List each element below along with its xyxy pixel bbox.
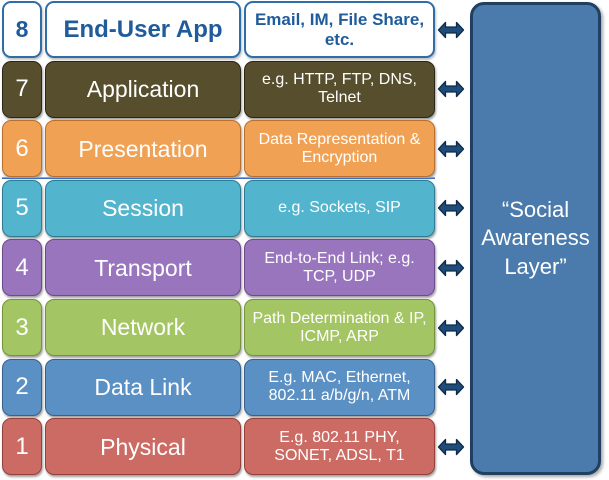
hairline-rule-1: [2, 178, 435, 179]
layer-description-6: Data Representation & Encryption: [244, 120, 435, 177]
layer-row-2: 2Data LinkE.g. MAC, Ethernet, 802.11 a/b…: [2, 359, 435, 416]
diagram-canvas: 8End-User AppEmail, IM, File Share, etc.…: [0, 0, 609, 480]
layer-description-3: Path Determination & IP, ICMP, ARP: [244, 299, 435, 356]
layer-description-4: End-to-End Link; e.g. TCP, UDP: [244, 239, 435, 296]
double-arrow-icon-1: [437, 435, 465, 459]
layer-name-4: Transport: [45, 239, 241, 296]
layer-name-5: Session: [45, 180, 241, 237]
layer-description-5: e.g. Sockets, SIP: [244, 180, 435, 237]
double-arrow-icon-4: [437, 256, 465, 280]
layer-number-1: 1: [2, 418, 42, 475]
social-awareness-panel: “Social Awareness Layer”: [470, 2, 601, 475]
layer-number-6: 6: [2, 120, 42, 177]
layer-row-8: 8End-User AppEmail, IM, File Share, etc.: [2, 1, 435, 58]
layer-description-2: E.g. MAC, Ethernet, 802.11 a/b/g/n, ATM: [244, 359, 435, 416]
layer-name-6: Presentation: [45, 120, 241, 177]
layer-number-2: 2: [2, 359, 42, 416]
layer-number-4: 4: [2, 239, 42, 296]
layer-row-5: 5Sessione.g. Sockets, SIP: [2, 180, 435, 237]
layer-row-3: 3NetworkPath Determination & IP, ICMP, A…: [2, 299, 435, 356]
layer-row-7: 7Applicatione.g. HTTP, FTP, DNS, Telnet: [2, 61, 435, 118]
layer-name-2: Data Link: [45, 359, 241, 416]
layer-number-7: 7: [2, 61, 42, 118]
double-arrow-icon-2: [437, 375, 465, 399]
layer-number-3: 3: [2, 299, 42, 356]
social-awareness-panel-label: “Social Awareness Layer”: [475, 196, 595, 282]
layer-name-3: Network: [45, 299, 241, 356]
layer-number-8: 8: [2, 1, 42, 58]
layer-description-1: E.g. 802.11 PHY, SONET, ADSL, T1: [244, 418, 435, 475]
layer-row-1: 1PhysicalE.g. 802.11 PHY, SONET, ADSL, T…: [2, 418, 435, 475]
layer-name-7: Application: [45, 61, 241, 118]
layer-description-7: e.g. HTTP, FTP, DNS, Telnet: [244, 61, 435, 118]
double-arrow-icon-8: [437, 18, 465, 42]
double-arrow-icon-6: [437, 137, 465, 161]
double-arrow-icon-3: [437, 316, 465, 340]
layer-name-8: End-User App: [45, 1, 241, 58]
double-arrow-icon-5: [437, 196, 465, 220]
layer-description-8: Email, IM, File Share, etc.: [244, 1, 435, 58]
double-arrow-icon-7: [437, 77, 465, 101]
osi-layer-stack: 8End-User AppEmail, IM, File Share, etc.…: [0, 0, 436, 480]
layer-row-6: 6PresentationData Representation & Encry…: [2, 120, 435, 177]
layer-name-1: Physical: [45, 418, 241, 475]
layer-row-4: 4TransportEnd-to-End Link; e.g. TCP, UDP: [2, 239, 435, 296]
layer-number-5: 5: [2, 180, 42, 237]
